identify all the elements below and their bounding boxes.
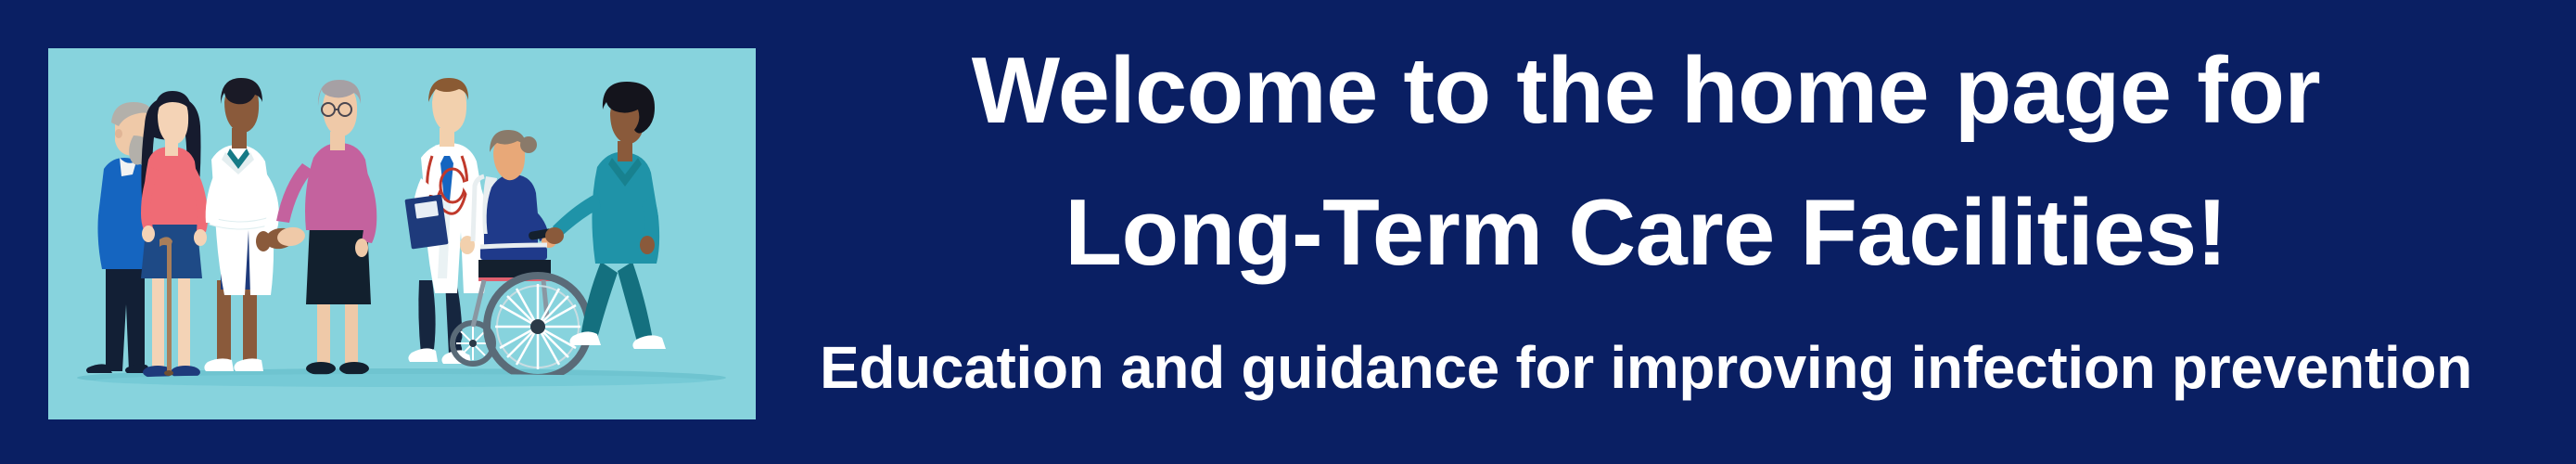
banner-text-block: Welcome to the home page for Long-Term C… [770, 0, 2522, 464]
headline-line-1: Welcome to the home page for [972, 0, 2320, 138]
long-term-care-people-illustration [48, 48, 756, 419]
illustration-svg [48, 48, 756, 419]
clipboard [404, 194, 448, 249]
headline-line-2: Long-Term Care Facilities! [1065, 138, 2227, 280]
banner-subtitle: Education and guidance for improving inf… [820, 280, 2472, 397]
welcome-banner: Welcome to the home page for Long-Term C… [0, 0, 2576, 464]
